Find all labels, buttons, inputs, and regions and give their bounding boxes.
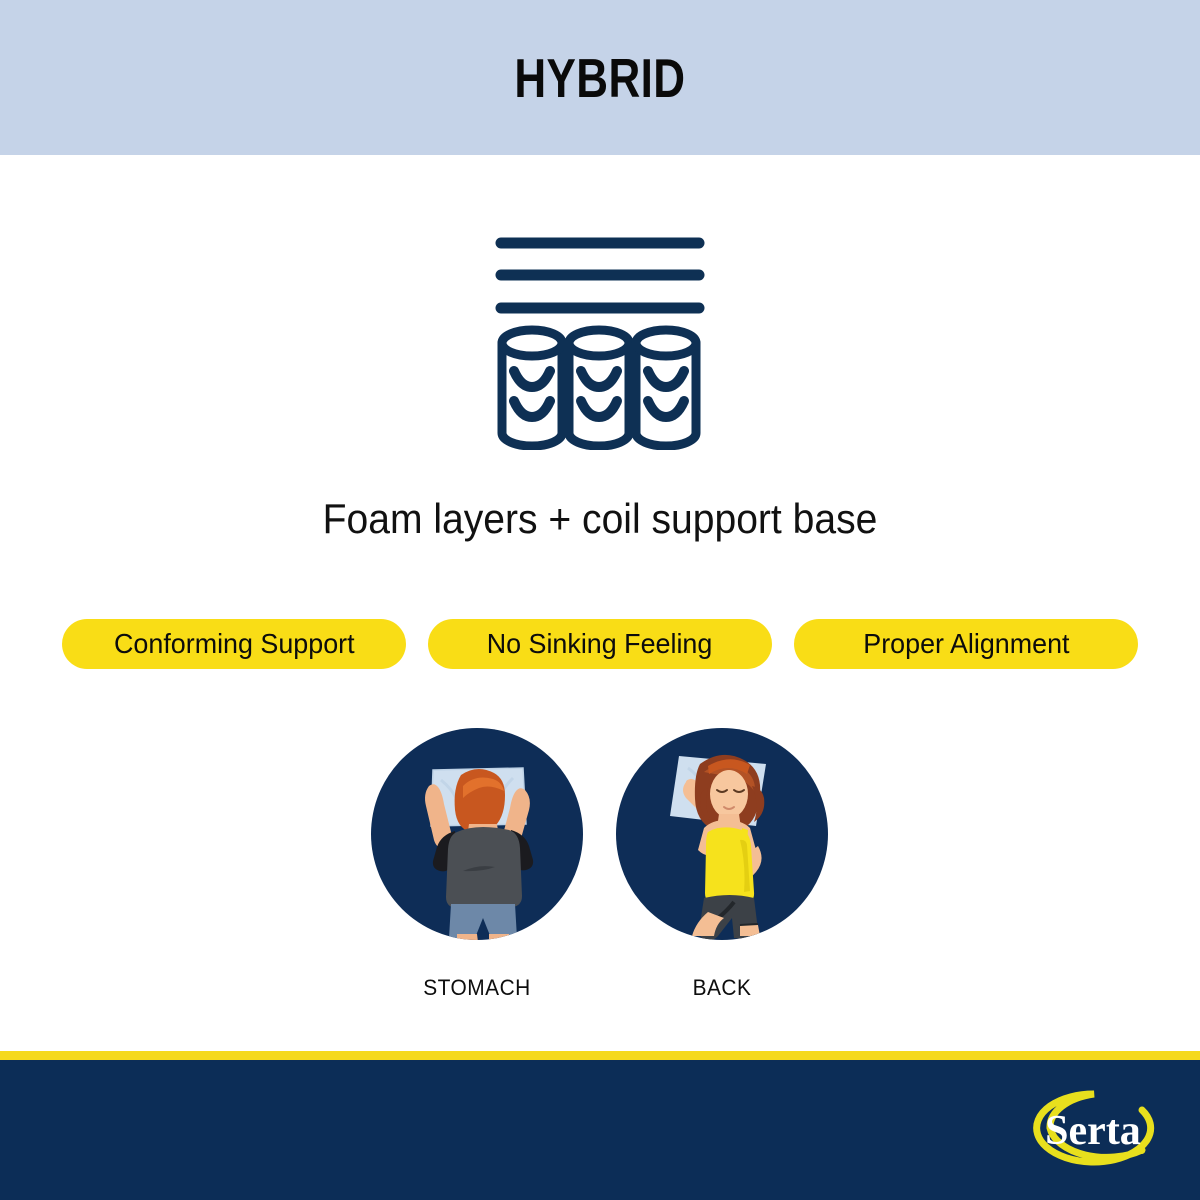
- pill-label: Conforming Support: [114, 630, 355, 658]
- pill-label: Proper Alignment: [863, 630, 1069, 658]
- serta-logo[interactable]: Serta ®: [1030, 1088, 1160, 1176]
- feature-pill-proper-alignment[interactable]: Proper Alignment: [794, 619, 1138, 669]
- sleeper-circle-back: [616, 728, 828, 940]
- subtitle-text: Foam layers + coil support base: [42, 495, 1158, 543]
- page-footer: [0, 1060, 1200, 1200]
- sleeper-circle-stomach: [371, 728, 583, 940]
- hybrid-mattress-coil-icon: [488, 225, 712, 450]
- page-title: HYBRID: [514, 51, 685, 106]
- back-sleeper-illustration: [616, 728, 828, 940]
- pill-label: No Sinking Feeling: [487, 630, 713, 658]
- hybrid-icon-container: [0, 225, 1200, 450]
- stomach-sleeper-illustration: [371, 728, 583, 940]
- serta-logo-icon: Serta ®: [1030, 1088, 1160, 1176]
- sleeper-positions: STOMACH: [0, 728, 1200, 1018]
- feature-pill-no-sinking-feeling[interactable]: No Sinking Feeling: [428, 619, 772, 669]
- registered-trademark-icon: ®: [1139, 1146, 1146, 1156]
- sleeper-caption-back: BACK: [621, 975, 822, 1001]
- feature-pill-row: Conforming Support No Sinking Feeling Pr…: [62, 619, 1138, 669]
- serta-wordmark: Serta: [1045, 1108, 1141, 1154]
- page-header: HYBRID: [0, 0, 1200, 155]
- sleeper-caption-stomach: STOMACH: [376, 975, 577, 1001]
- sleeper-item-stomach[interactable]: STOMACH: [371, 728, 583, 1001]
- sleeper-item-back[interactable]: BACK: [616, 728, 828, 1001]
- footer-accent-stripe: [0, 1051, 1200, 1060]
- feature-pill-conforming-support[interactable]: Conforming Support: [62, 619, 406, 669]
